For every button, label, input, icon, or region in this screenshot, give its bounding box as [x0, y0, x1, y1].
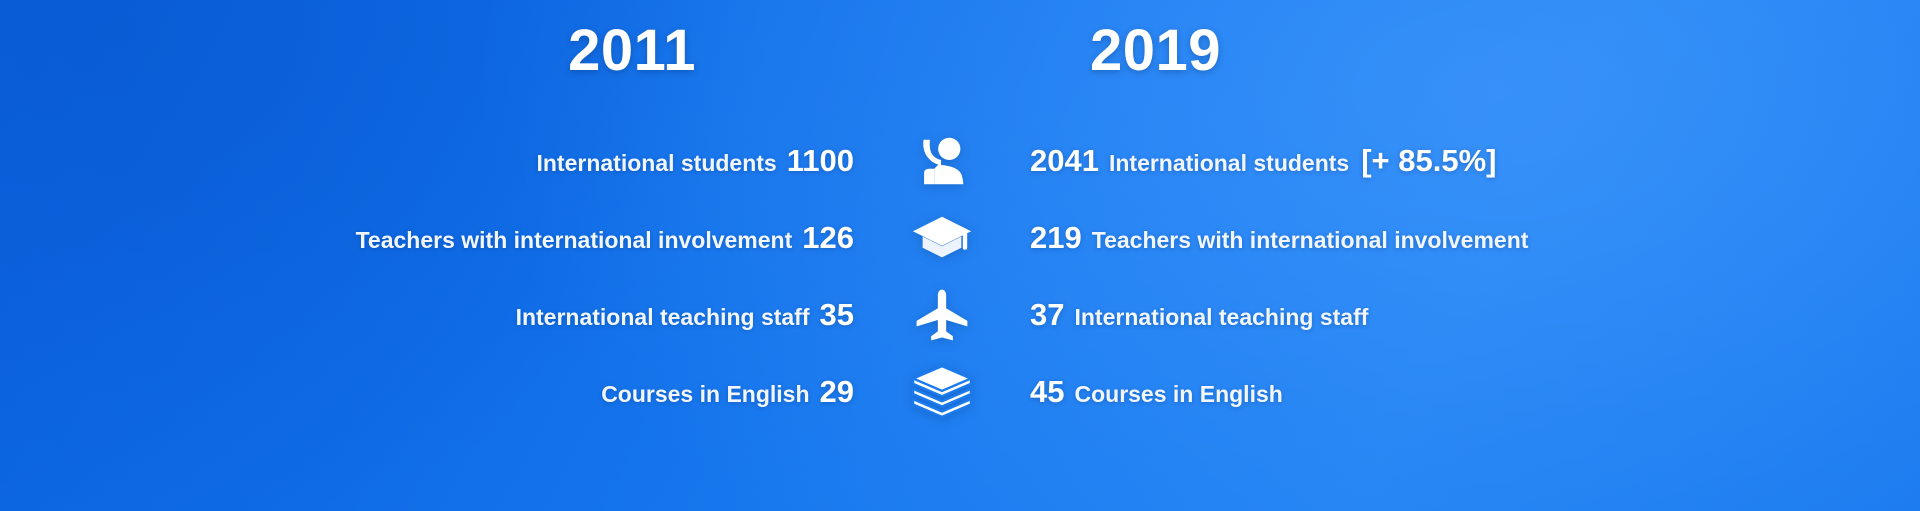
- stat-label: Courses in English: [601, 381, 809, 408]
- stat-icon-cell: [872, 130, 1012, 192]
- stat-row: Courses in English 29 45 Courses in Engl…: [0, 353, 1920, 430]
- internationalization-stats-infographic: 2011 2019 International students 1100: [0, 0, 1920, 511]
- stat-row-right-2019: 37 International teaching staff: [1012, 297, 1920, 333]
- stat-row-left-2011: International students 1100: [0, 143, 872, 179]
- stat-label: International students: [536, 150, 776, 177]
- year-heading-left: 2011: [568, 22, 696, 80]
- stat-row-right-2019: 2041 International students [+ 85.5%]: [1012, 143, 1920, 179]
- book-stack-icon: [909, 359, 975, 425]
- year-headings: 2011 2019: [0, 0, 1920, 122]
- stat-row: Teachers with international involvement …: [0, 199, 1920, 276]
- stat-row-left-2011: Teachers with international involvement …: [0, 220, 872, 256]
- stat-label: Courses in English: [1074, 381, 1282, 408]
- year-heading-right: 2019: [1090, 22, 1221, 80]
- stat-label: Teachers with international involvement: [1092, 227, 1529, 254]
- stat-label: International teaching staff: [516, 304, 810, 331]
- stat-delta: [+ 85.5%]: [1361, 143, 1496, 179]
- stat-label: Teachers with international involvement: [356, 227, 793, 254]
- stat-value: 126: [802, 220, 854, 256]
- stat-row-right-2019: 219 Teachers with international involvem…: [1012, 220, 1920, 256]
- stat-icon-cell: [872, 207, 1012, 269]
- stat-label: International teaching staff: [1074, 304, 1368, 331]
- stat-row-left-2011: Courses in English 29: [0, 374, 872, 410]
- airplane-icon: [913, 286, 971, 344]
- stat-value: 35: [820, 297, 854, 333]
- stat-icon-cell: [872, 286, 1012, 344]
- stat-value: 45: [1030, 374, 1064, 410]
- stat-value: 37: [1030, 297, 1064, 333]
- person-raised-hand-icon: [911, 130, 973, 192]
- stat-value: 29: [820, 374, 854, 410]
- stat-label: International students: [1109, 150, 1349, 177]
- stat-value: 1100: [787, 143, 854, 179]
- graduation-cap-icon: [911, 207, 973, 269]
- stat-row: International teaching staff 35 37 Inter…: [0, 276, 1920, 353]
- stat-row-left-2011: International teaching staff 35: [0, 297, 872, 333]
- stat-value: 219: [1030, 220, 1082, 256]
- stat-icon-cell: [872, 359, 1012, 425]
- stat-row-right-2019: 45 Courses in English: [1012, 374, 1920, 410]
- stats-rows: International students 1100 2041 Interna…: [0, 122, 1920, 430]
- stat-value: 2041: [1030, 143, 1099, 179]
- stat-row: International students 1100 2041 Interna…: [0, 122, 1920, 199]
